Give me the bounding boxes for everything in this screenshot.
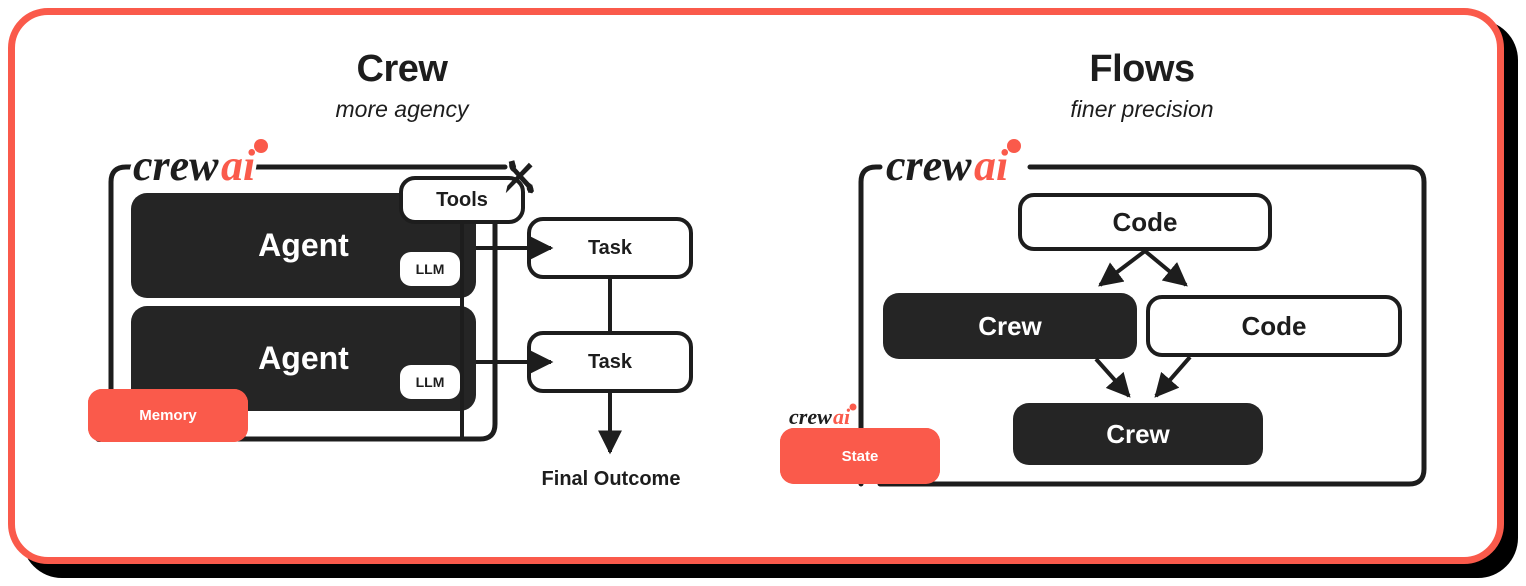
tools-box[interactable]: Tools [399, 176, 525, 224]
llm-pill-1[interactable]: LLM [400, 252, 460, 286]
tools-label: Tools [436, 189, 488, 212]
panel-subtitle-crew: more agency [202, 96, 602, 123]
memory-label-top: Memory [139, 407, 197, 424]
agent-label-1: Agent [258, 227, 349, 264]
panel-title-crew: Crew [202, 48, 602, 91]
task-label-1: Task [588, 237, 632, 260]
code-box-top[interactable]: Code [1018, 193, 1272, 251]
task-label-2: Task [588, 351, 632, 374]
task-box-2[interactable]: Task [527, 331, 693, 393]
panel-title-flows: Flows [942, 48, 1342, 91]
agent-label-2: Agent [258, 340, 349, 377]
state-badge-top[interactable]: State [780, 428, 940, 484]
crew-label-bottom: Crew [1106, 419, 1170, 450]
llm-label-1: LLM [416, 261, 445, 277]
panel-subtitle-flows: finer precision [942, 96, 1342, 123]
llm-label-2: LLM [416, 374, 445, 390]
code-box-right[interactable]: Code [1146, 295, 1402, 357]
llm-pill-2[interactable]: LLM [400, 365, 460, 399]
crew-box-left[interactable]: Crew [883, 293, 1137, 359]
final-outcome-caption: Final Outcome [511, 468, 711, 491]
state-label-top: State [842, 448, 879, 465]
code-label-top: Code [1113, 207, 1178, 238]
diagram-canvas: Crew more agency Flows finer precision A… [0, 0, 1526, 586]
crew-label-left: Crew [978, 311, 1042, 342]
task-box-1[interactable]: Task [527, 217, 693, 279]
code-label-right: Code [1242, 311, 1307, 342]
crew-box-bottom[interactable]: Crew [1013, 403, 1263, 465]
memory-badge-top[interactable]: Memory [88, 389, 248, 442]
